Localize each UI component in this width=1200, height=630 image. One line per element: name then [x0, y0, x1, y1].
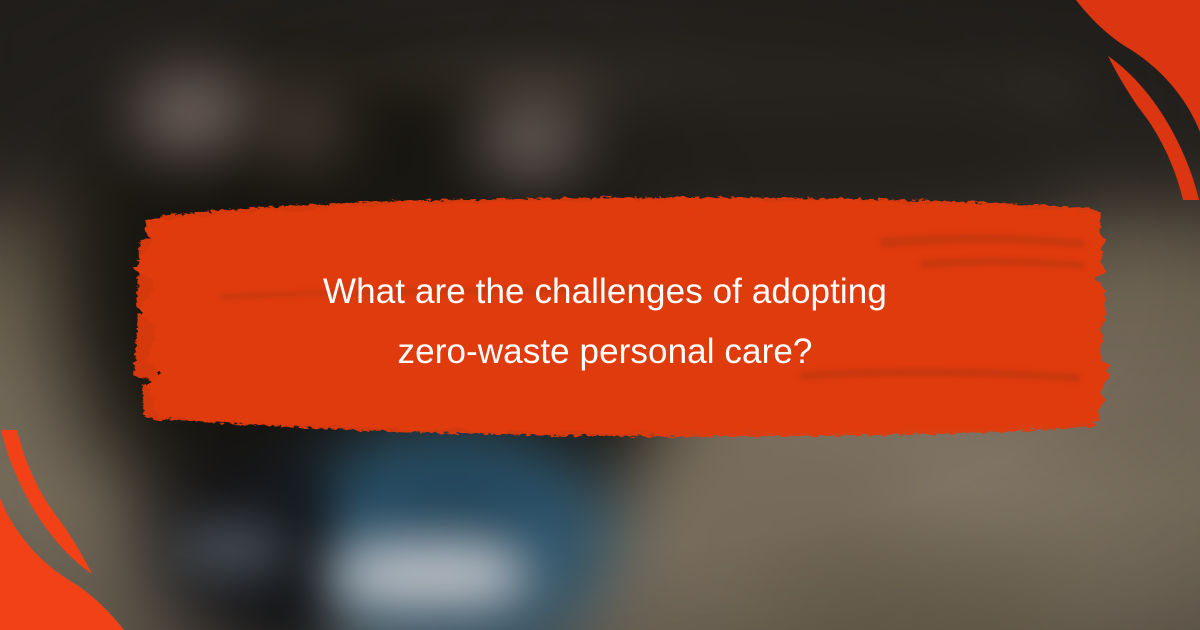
headline: What are the challenges of adopting zero… — [150, 262, 1060, 382]
headline-line-1: What are the challenges of adopting — [150, 262, 1060, 322]
headline-line-2: zero-waste personal care? — [150, 322, 1060, 382]
share-card: What are the challenges of adopting zero… — [0, 0, 1200, 630]
